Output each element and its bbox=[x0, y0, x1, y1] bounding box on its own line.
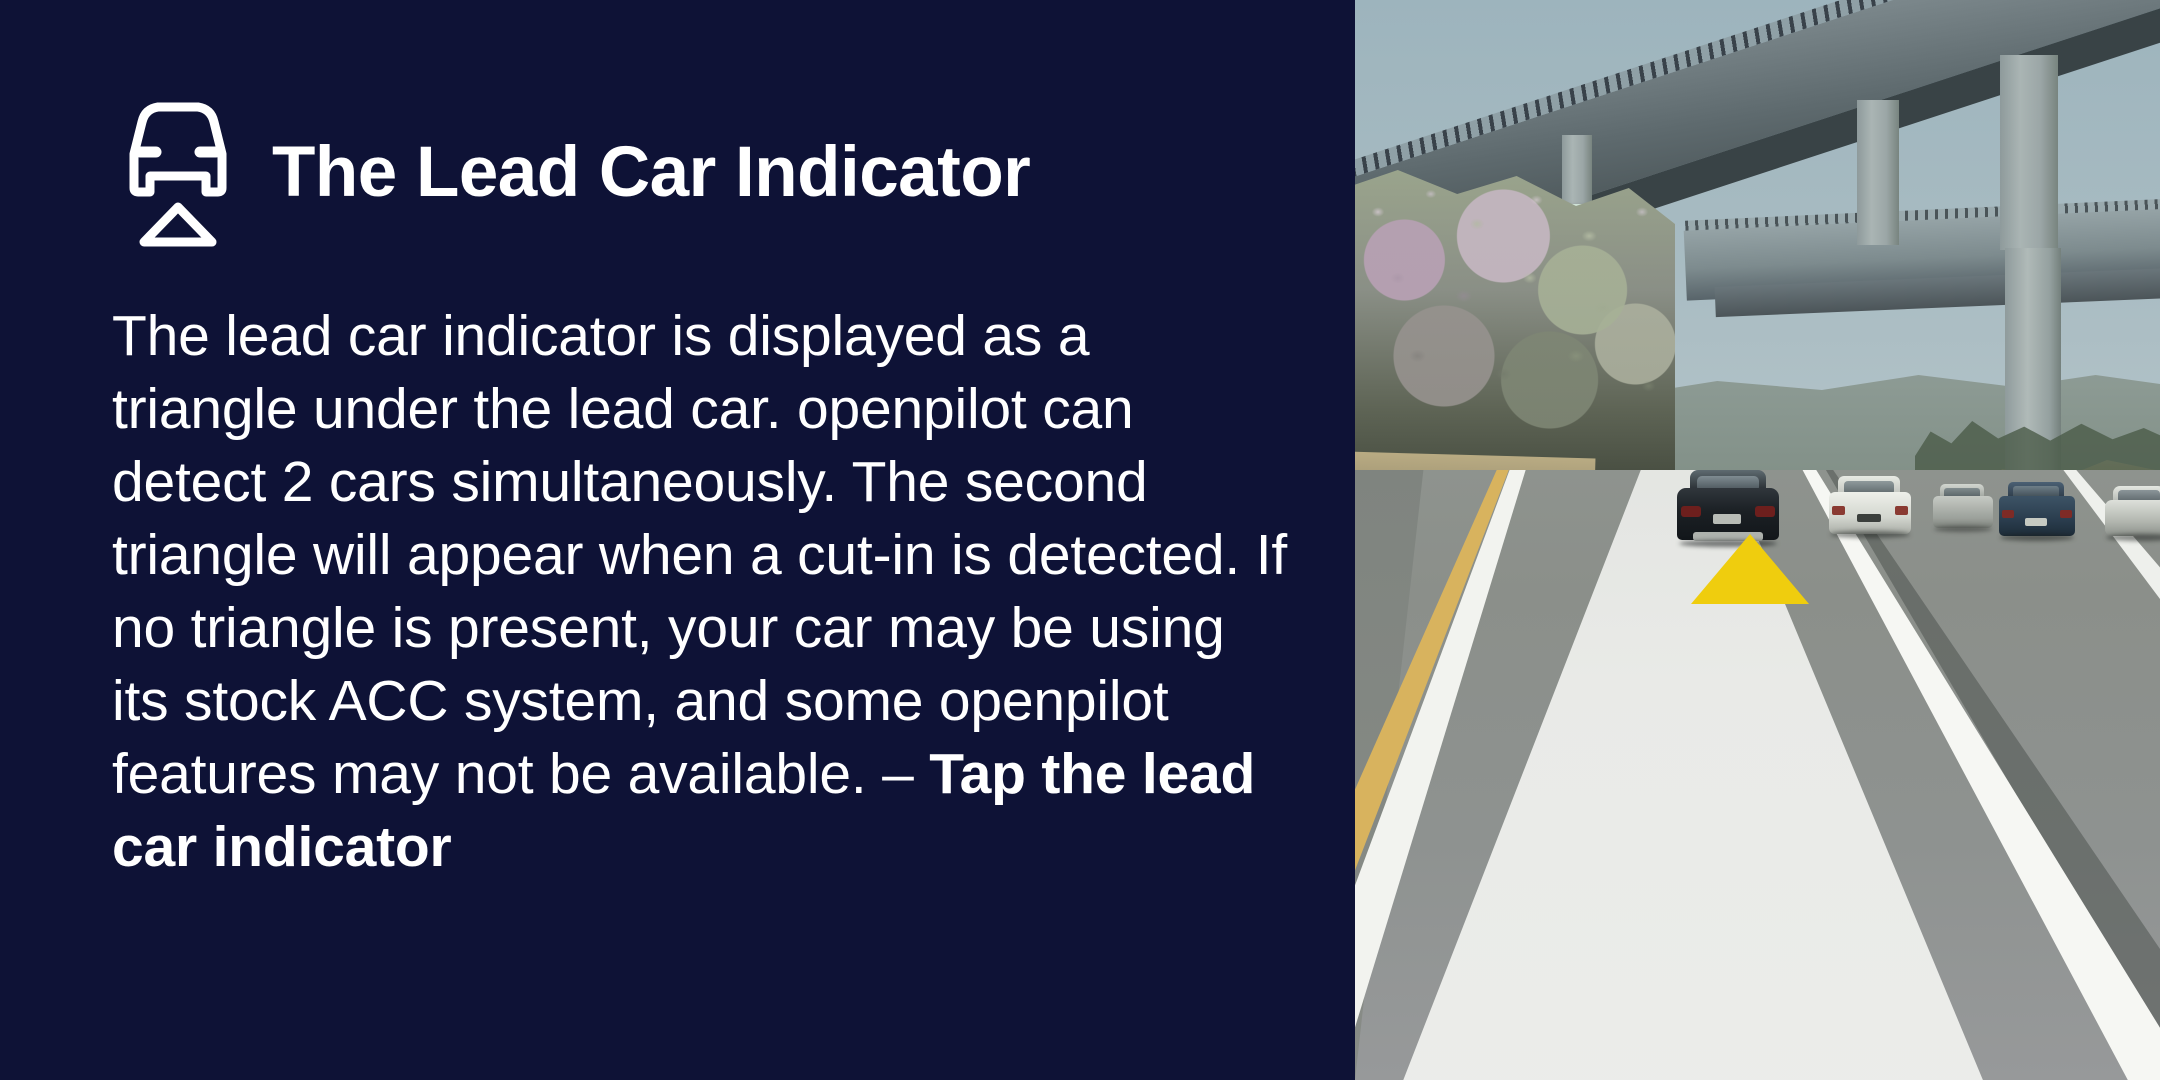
blue-pickup-taillight-left bbox=[2002, 510, 2014, 518]
silver-sedan-right bbox=[2105, 486, 2160, 544]
white-suv-taillight-left bbox=[1832, 506, 1845, 515]
silver-car-body bbox=[1933, 496, 1993, 528]
panel-header: The Lead Car Indicator bbox=[112, 92, 1030, 247]
silver-car-shadow bbox=[1934, 526, 1992, 532]
bridge-column-b bbox=[1857, 100, 1899, 245]
blue-pickup-shadow bbox=[2000, 534, 2074, 541]
lead-car-indicator-screen: The Lead Car Indicator The lead car indi… bbox=[0, 0, 2160, 1080]
page-title: The Lead Car Indicator bbox=[272, 137, 1030, 208]
lead-car-indicator-icon bbox=[112, 92, 244, 247]
white-suv-license-plate bbox=[1857, 514, 1881, 522]
white-suv-taillight-right bbox=[1895, 506, 1908, 515]
lead-car-taillight-right bbox=[1755, 506, 1775, 517]
blue-pickup bbox=[1999, 482, 2075, 542]
white-suv bbox=[1829, 476, 1911, 540]
lead-car-taillight-left bbox=[1681, 506, 1701, 517]
lead-car-triangle-indicator[interactable] bbox=[1691, 534, 1809, 604]
body-text-primary: The lead car indicator is displayed as a… bbox=[112, 304, 1287, 806]
silver-sedan-shadow bbox=[2106, 534, 2160, 541]
blue-pickup-license-plate bbox=[2025, 518, 2047, 526]
roadside-flowering-hedge-texture bbox=[1355, 170, 1675, 470]
lead-car-license-plate bbox=[1713, 514, 1741, 524]
panel-body-text: The lead car indicator is displayed as a… bbox=[112, 300, 1287, 884]
silver-car bbox=[1933, 484, 1993, 536]
highway-driving-camera-view: Balboa Avenue Garnet Avenue 2 Clairemont… bbox=[1355, 0, 2160, 1080]
white-suv-shadow bbox=[1830, 531, 1910, 538]
info-panel: The Lead Car Indicator The lead car indi… bbox=[0, 0, 1355, 1080]
blue-pickup-taillight-right bbox=[2060, 510, 2072, 518]
silver-sedan-body bbox=[2105, 500, 2160, 536]
bridge-column-c bbox=[2000, 55, 2058, 250]
